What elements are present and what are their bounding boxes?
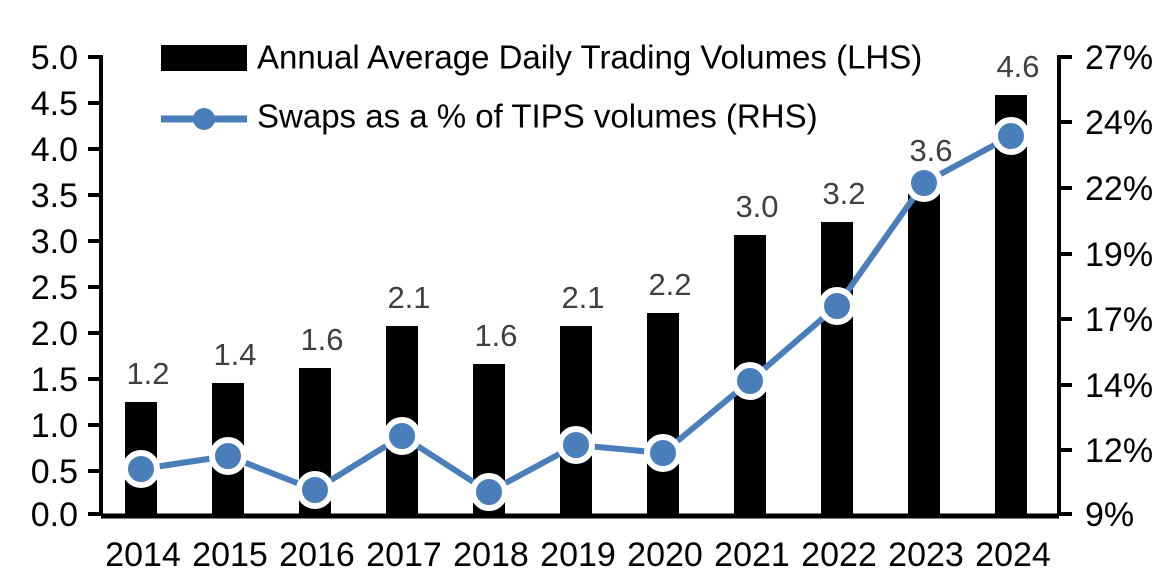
right-tick-label: 22% (1085, 170, 1152, 208)
marker-2015 (212, 440, 244, 472)
left-tick-label: 4.0 (31, 131, 78, 169)
x-tick-label-2023: 2023 (888, 536, 964, 574)
right-tick-label: 17% (1085, 301, 1152, 339)
right-tick-label: 19% (1085, 236, 1152, 274)
bar-label-2019: 2.1 (561, 280, 604, 315)
bar-2022 (821, 222, 853, 515)
x-tick-label-2022: 2022 (801, 536, 877, 574)
left-axis-tick-labels: 5.0 4.5 4.0 3.5 3.0 2.5 2.0 1.5 1.0 0.5 … (31, 39, 78, 534)
x-tick-label-2017: 2017 (366, 536, 442, 574)
bar-label-2021: 3.0 (735, 189, 778, 224)
marker-2023 (908, 167, 940, 199)
legend-bar-swatch (161, 45, 247, 71)
x-tick-label-2015: 2015 (192, 536, 268, 574)
bar-label-2016: 1.6 (300, 322, 343, 357)
left-tick-label: 0.5 (31, 453, 78, 491)
marker-2016 (299, 474, 331, 506)
x-tick-label-2020: 2020 (627, 536, 703, 574)
left-tick-label: 2.5 (31, 269, 78, 307)
left-tick-label: 1.5 (31, 361, 78, 399)
left-tick-label: 2.0 (31, 315, 78, 353)
bar-label-2015: 1.4 (213, 337, 256, 372)
x-axis-tick-labels: 2014 2015 2016 2017 2018 2019 2020 2021 … (105, 536, 1051, 574)
bar-2024 (995, 95, 1027, 515)
right-tick-label: 27% (1085, 39, 1152, 77)
legend-label-bars: Annual Average Daily Trading Volumes (LH… (257, 39, 922, 76)
left-tick-label: 3.0 (31, 223, 78, 261)
x-tick-label-2014: 2014 (105, 536, 181, 574)
legend-marker-icon (193, 108, 215, 130)
legend-item-line[interactable]: Swaps as a % of TIPS volumes (RHS) (161, 98, 818, 135)
right-axis: 27% 24% 22% 19% 17% 14% 12% 9% (1059, 39, 1152, 534)
x-tick-label-2016: 2016 (279, 536, 355, 574)
bar-label-2014: 1.2 (126, 356, 169, 391)
bar-label-2018: 1.6 (474, 318, 517, 353)
left-tick-label: 1.0 (31, 407, 78, 445)
right-tick-label: 14% (1085, 367, 1152, 405)
marker-2022 (821, 290, 853, 322)
combo-chart: 5.0 4.5 4.0 3.5 3.0 2.5 2.0 1.5 1.0 0.5 … (0, 0, 1152, 584)
left-tick-label: 5.0 (31, 39, 78, 77)
bar-label-2023: 3.6 (909, 133, 952, 168)
right-tick-label: 24% (1085, 104, 1152, 142)
marker-2024 (995, 120, 1027, 152)
bar-2020 (647, 313, 679, 515)
right-tick-label: 12% (1085, 432, 1152, 470)
right-tick-label: 9% (1085, 496, 1134, 534)
legend-label-line: Swaps as a % of TIPS volumes (RHS) (257, 98, 818, 135)
x-tick-label-2018: 2018 (453, 536, 529, 574)
bar-label-2017: 2.1 (387, 280, 430, 315)
marker-2019 (560, 429, 592, 461)
bar-2023 (908, 179, 940, 515)
legend-item-bars[interactable]: Annual Average Daily Trading Volumes (LH… (161, 39, 922, 76)
x-tick-label-2019: 2019 (540, 536, 616, 574)
x-tick-label-2024: 2024 (975, 536, 1051, 574)
left-tick-label: 3.5 (31, 177, 78, 215)
marker-2017 (386, 420, 418, 452)
bar-2019 (560, 326, 592, 515)
marker-2014 (125, 453, 157, 485)
left-tick-label: 0.0 (31, 496, 78, 534)
marker-2018 (473, 476, 505, 508)
bar-label-2020: 2.2 (648, 267, 691, 302)
right-axis-tick-labels: 27% 24% 22% 19% 17% 14% 12% 9% (1085, 39, 1152, 534)
chart-container: 5.0 4.5 4.0 3.5 3.0 2.5 2.0 1.5 1.0 0.5 … (0, 0, 1152, 584)
bar-label-2024: 4.6 (996, 49, 1039, 84)
bar-label-2022: 3.2 (822, 176, 865, 211)
marker-2021 (734, 365, 766, 397)
left-axis: 5.0 4.5 4.0 3.5 3.0 2.5 2.0 1.5 1.0 0.5 … (31, 39, 101, 534)
marker-2020 (647, 437, 679, 469)
x-tick-label-2021: 2021 (714, 536, 790, 574)
left-tick-label: 4.5 (31, 85, 78, 123)
